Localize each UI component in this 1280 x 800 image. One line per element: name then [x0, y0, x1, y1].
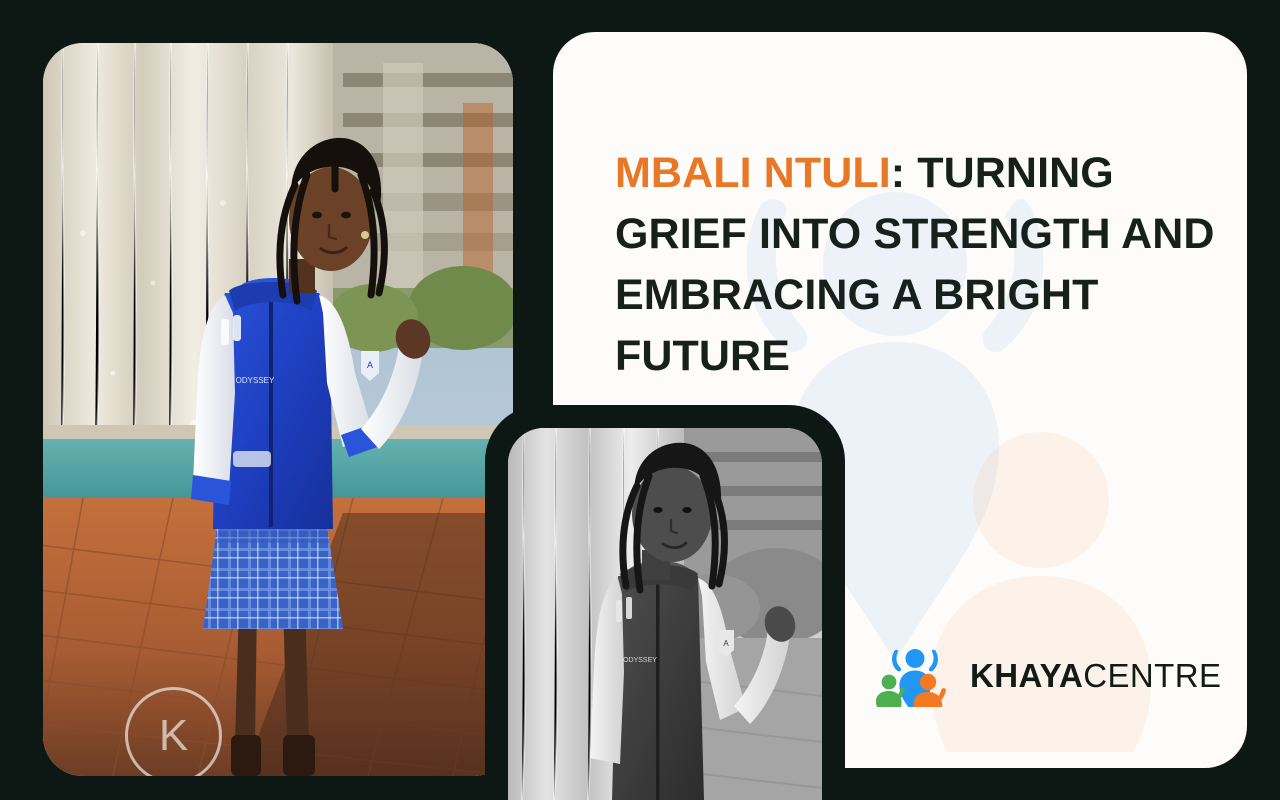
brand-wordmark-light: CENTRE [1083, 657, 1221, 694]
svg-text:ODYSSEY: ODYSSEY [623, 657, 657, 664]
svg-text:A: A [723, 639, 729, 648]
svg-text:ODYSSEY: ODYSSEY [236, 376, 275, 385]
portrait-photo-black-and-white: A ODYSSEY [508, 428, 822, 800]
headline-text: MBALI NTULI: TURNING GRIEF INTO STRENGTH… [615, 143, 1215, 387]
brand-logo-lockup[interactable]: KHAYACENTRE [876, 645, 1221, 707]
brand-wordmark-bold: KHAYA [970, 657, 1083, 694]
circular-k-watermark: K [125, 687, 222, 776]
page-title: MBALI NTULI: TURNING GRIEF INTO STRENGTH… [615, 143, 1215, 387]
brand-wordmark: KHAYACENTRE [970, 657, 1221, 695]
svg-text:A: A [367, 360, 373, 370]
k-watermark-letter: K [159, 714, 188, 758]
khaya-centre-three-figures-logo-icon [876, 645, 954, 707]
headline-subject-name: MBALI NTULI [615, 149, 891, 197]
poster-canvas: MBALI NTULI: TURNING GRIEF INTO STRENGTH… [0, 0, 1280, 800]
portrait-photo-colour: A ODYSSEY K [43, 43, 513, 776]
